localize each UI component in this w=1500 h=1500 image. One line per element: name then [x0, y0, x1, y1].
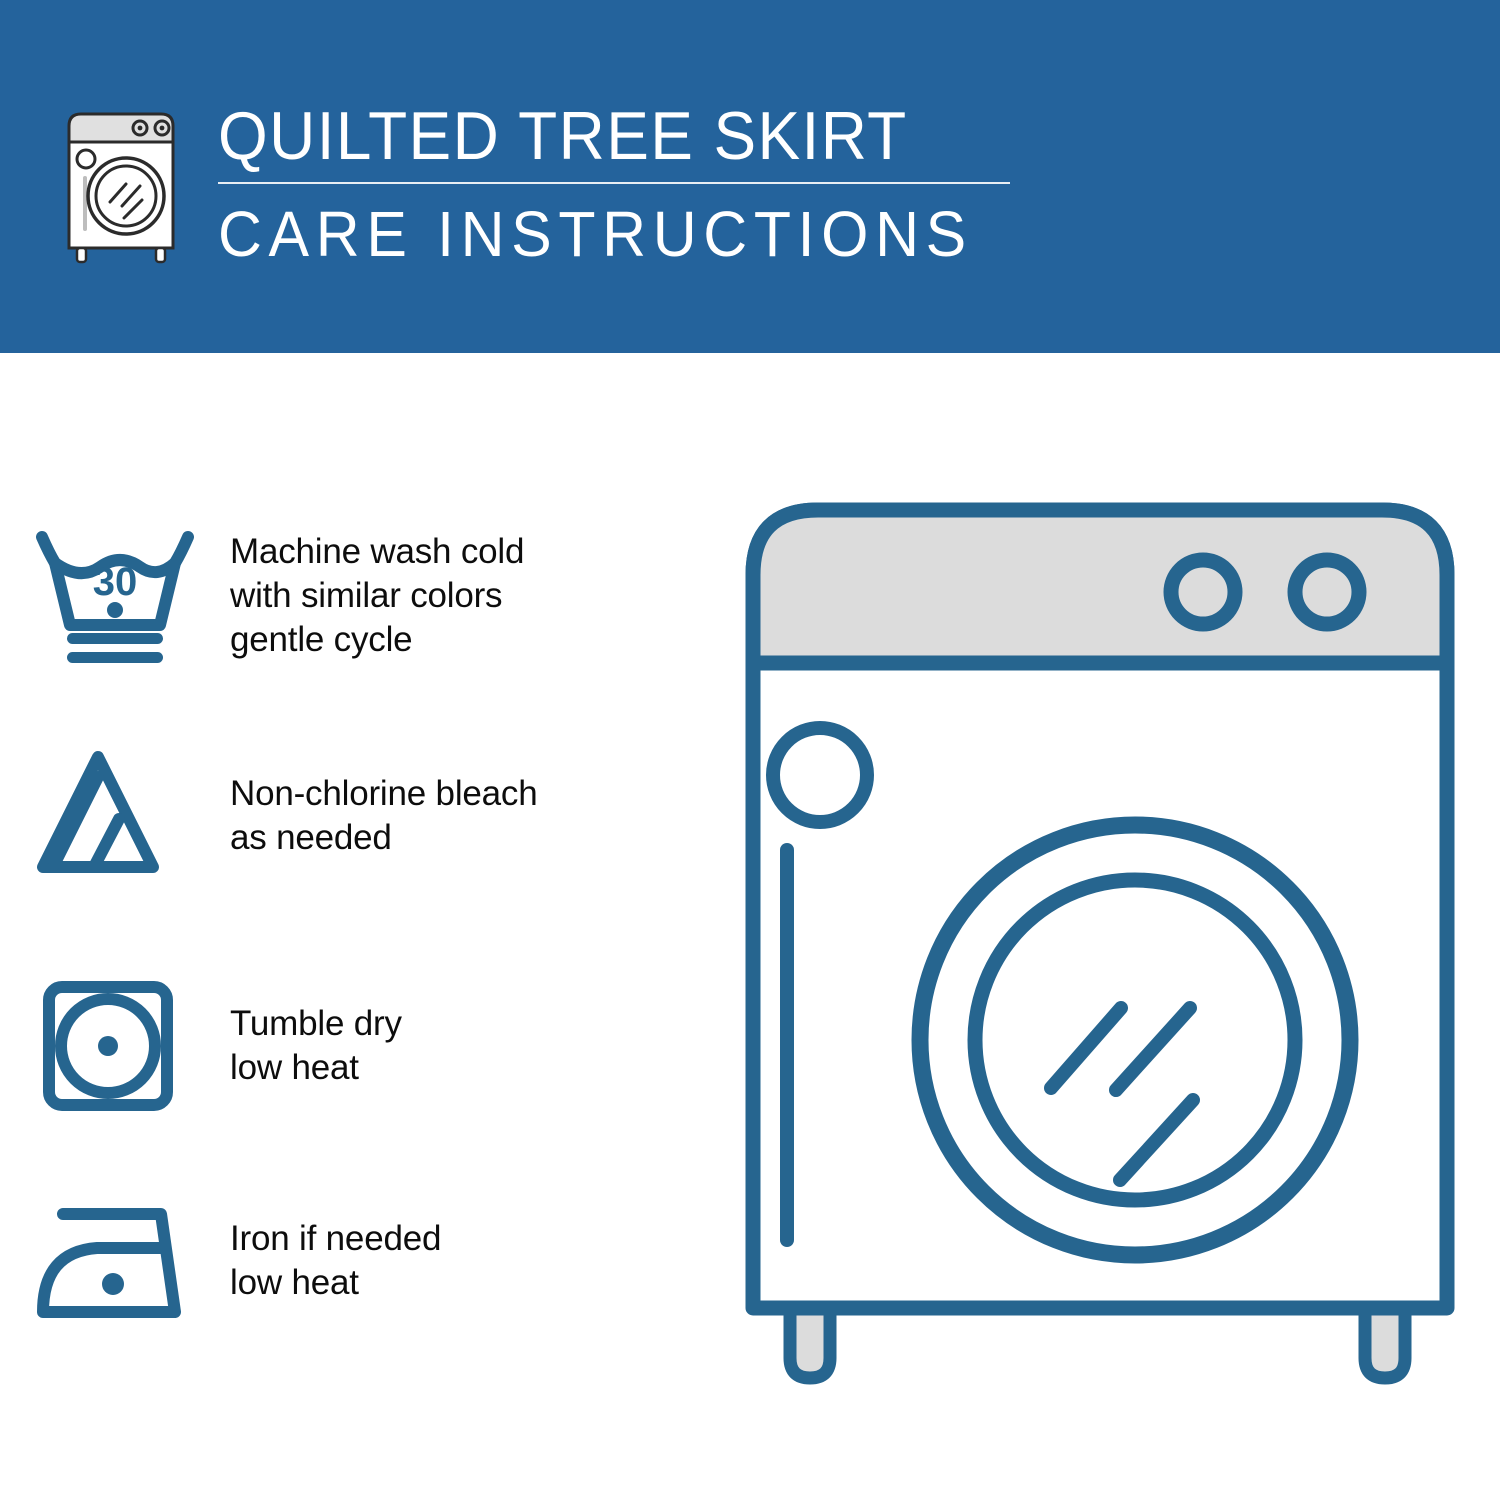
header-band: QUILTED TREE SKIRT CARE INSTRUCTIONS [0, 0, 1500, 353]
care-row-machine-wash: 30 Machine wash cold with similar colors… [0, 508, 720, 683]
door-inner-ring [975, 880, 1295, 1200]
detergent-dial [773, 728, 867, 822]
care-row-bleach: Non-chlorine bleach as needed [0, 728, 720, 903]
page-subtitle: CARE INSTRUCTIONS [218, 196, 978, 272]
care-label-iron: Iron if needed low heat [230, 1217, 441, 1305]
non-chlorine-bleach-triangle-icon [0, 728, 230, 903]
care-label-machine-wash: Machine wash cold with similar colors ge… [230, 530, 524, 662]
care-label-bleach: Non-chlorine bleach as needed [230, 772, 538, 860]
wash-tub-30-gentle-icon: 30 [0, 508, 230, 683]
tumble-dry-low-heat-icon [0, 958, 230, 1133]
care-instruction-list: 30 Machine wash cold with similar colors… [0, 353, 740, 1500]
care-row-tumble-dry: Tumble dry low heat [0, 958, 720, 1133]
care-row-iron: Iron if needed low heat [0, 1173, 720, 1348]
care-instructions-page: QUILTED TREE SKIRT CARE INSTRUCTIONS [0, 0, 1500, 1500]
title-divider [218, 182, 1010, 184]
control-knob-right [1295, 560, 1359, 624]
iron-low-heat-icon [0, 1173, 230, 1348]
front-load-washing-machine-illustration [735, 480, 1465, 1430]
care-label-tumble-dry: Tumble dry low heat [230, 1002, 402, 1090]
control-knob-left [1171, 560, 1235, 624]
wash-temp-value: 30 [93, 560, 138, 604]
page-title: QUILTED TREE SKIRT [218, 96, 970, 176]
header-text-block: QUILTED TREE SKIRT CARE INSTRUCTIONS [218, 96, 1018, 272]
washing-machine-icon [58, 104, 188, 269]
